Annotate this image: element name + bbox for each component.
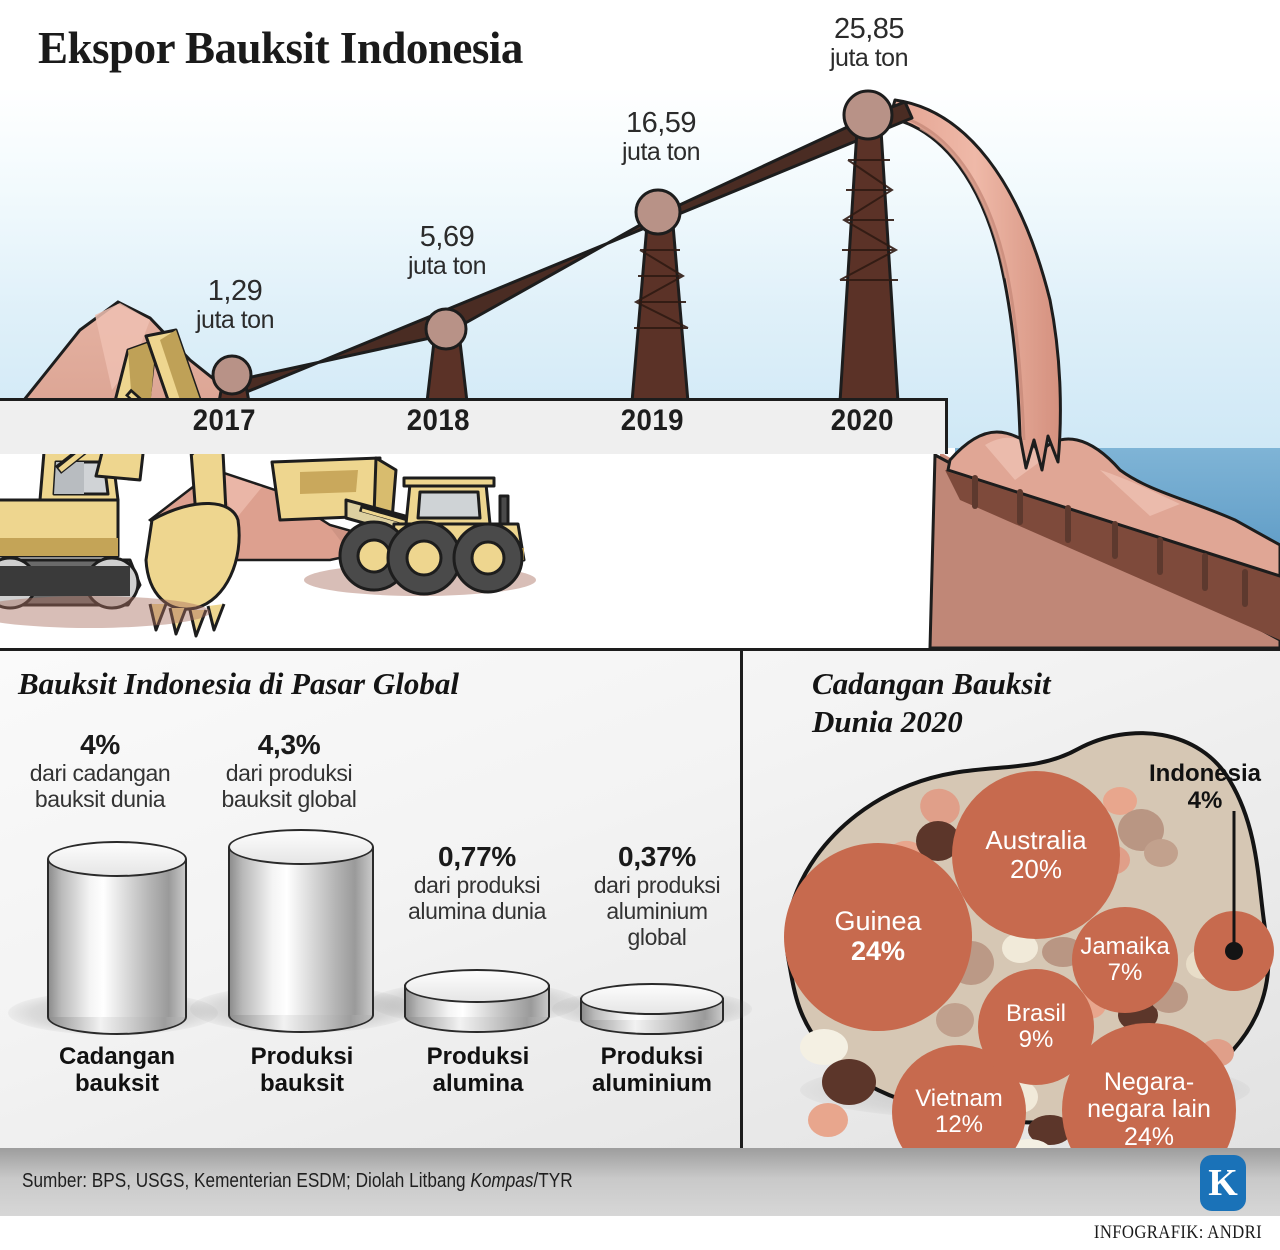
pebble-18 xyxy=(822,1059,876,1105)
pct-value-produksi-alumina: 0,77% xyxy=(382,841,572,873)
year-label-2018: 2018 xyxy=(407,404,470,438)
cylinder-top-1 xyxy=(47,841,187,877)
cylinder-body-2 xyxy=(228,847,374,1015)
bar-label2-produksi-aluminium: aluminium xyxy=(562,1070,742,1097)
bar-label-cadangan-bauksit: Cadangan bauksit xyxy=(27,1043,207,1098)
page-title: Ekspor Bauksit Indonesia xyxy=(38,22,523,74)
source-italic: Kompas xyxy=(470,1170,533,1192)
bubble-name-guinea: Guinea xyxy=(834,907,921,937)
unit-2019: juta ton xyxy=(582,139,740,166)
pebble-12 xyxy=(936,1003,974,1037)
source-suffix: /TYR xyxy=(533,1170,572,1192)
bubble-name-negara-lain-2: negara lain xyxy=(1087,1096,1211,1124)
pct-desc1-produksi-bauksit: dari produksi xyxy=(194,761,384,787)
pct-desc1-produksi-alumina: dari produksi xyxy=(382,873,572,899)
pct-group-produksi-alumina: 0,77% dari produksi alumina dunia xyxy=(382,841,572,925)
pct-group-produksi-aluminium: 0,37% dari produksi aluminium global xyxy=(562,841,752,950)
pct-desc2-produksi-aluminium: aluminium xyxy=(562,899,752,925)
bar-label-produksi-aluminium: Produksi aluminium xyxy=(562,1043,742,1098)
pct-group-cadangan-bauksit: 4% dari cadangan bauksit dunia xyxy=(10,729,190,813)
cylinder-produksi-aluminium xyxy=(580,983,724,1033)
year-axis-strip xyxy=(0,398,948,454)
indonesia-name: Indonesia xyxy=(1130,761,1280,788)
bubble-pct-australia: 20% xyxy=(985,855,1086,884)
year-label-2020: 2020 xyxy=(831,404,894,438)
cylinder-cadangan-bauksit xyxy=(47,841,187,1031)
pct-desc2-produksi-bauksit: bauksit global xyxy=(194,787,384,813)
indonesia-pct: 4% xyxy=(1130,788,1280,815)
bubble-pct-vietnam: 12% xyxy=(915,1112,1003,1138)
bar-label2-produksi-alumina: alumina xyxy=(388,1070,568,1097)
bubble-name-vietnam: Vietnam xyxy=(915,1086,1003,1112)
market-section-title: Bauksit Indonesia di Pasar Global xyxy=(18,665,459,703)
pct-value-produksi-aluminium: 0,37% xyxy=(562,841,752,873)
pct-value-cadangan-bauksit: 4% xyxy=(10,729,190,761)
cylinder-top-2 xyxy=(228,829,374,865)
value-2017: 1,29 xyxy=(208,275,262,307)
reserves-title-line1: Cadangan Bauksit xyxy=(812,665,1152,703)
value-label-2018: 5,69 juta ton xyxy=(372,222,522,280)
bubble-guinea[interactable]: Guinea 24% xyxy=(784,843,972,1031)
kompas-logo[interactable]: K xyxy=(1200,1155,1246,1211)
value-label-2017: 1,29 juta ton xyxy=(160,276,310,334)
source-text: Sumber: BPS, USGS, Kementerian ESDM; Dio… xyxy=(22,1170,573,1193)
pct-desc3-produksi-aluminium: global xyxy=(562,925,752,951)
bubble-name-jamaika: Jamaika xyxy=(1080,934,1169,960)
cylinder-produksi-alumina xyxy=(404,969,550,1033)
bubble-name-negara-lain-1: Negara- xyxy=(1087,1069,1211,1097)
reserves-title-line2: Dunia 2020 xyxy=(812,703,1152,741)
bar-label1-produksi-bauksit: Produksi xyxy=(212,1043,392,1070)
year-label-2017: 2017 xyxy=(193,404,256,438)
bar-label1-produksi-aluminium: Produksi xyxy=(562,1043,742,1070)
bubble-pct-negara-lain: 24% xyxy=(1087,1124,1211,1148)
bubble-name-brasil: Brasil xyxy=(1006,1001,1066,1027)
bubble-australia[interactable]: Australia 20% xyxy=(952,771,1120,939)
pct-value-produksi-bauksit: 4,3% xyxy=(194,729,384,761)
bar-label2-cadangan-bauksit: bauksit xyxy=(27,1070,207,1097)
pebble-8 xyxy=(1144,839,1178,867)
pct-desc2-produksi-alumina: alumina dunia xyxy=(382,899,572,925)
bar-label-produksi-bauksit: Produksi bauksit xyxy=(212,1043,392,1098)
bubble-pct-brasil: 9% xyxy=(1006,1027,1066,1053)
bar-label1-cadangan-bauksit: Cadangan xyxy=(27,1043,207,1070)
pebble-19 xyxy=(808,1103,848,1137)
value-2020: 25,85 xyxy=(834,13,904,45)
value-label-2020: 25,85 juta ton xyxy=(790,14,948,72)
bar-label1-produksi-alumina: Produksi xyxy=(388,1043,568,1070)
pct-group-produksi-bauksit: 4,3% dari produksi bauksit global xyxy=(194,729,384,813)
bubble-pct-guinea: 24% xyxy=(851,936,905,966)
bar-label-produksi-alumina: Produksi alumina xyxy=(388,1043,568,1098)
unit-2018: juta ton xyxy=(372,253,522,280)
year-label-2019: 2019 xyxy=(621,404,684,438)
indonesia-callout: Indonesia 4% xyxy=(1130,761,1280,815)
unit-2017: juta ton xyxy=(160,307,310,334)
cylinder-body-1 xyxy=(47,859,187,1017)
value-2019: 16,59 xyxy=(626,107,696,139)
bubble-pct-jamaika: 7% xyxy=(1080,960,1169,986)
bubble-jamaika[interactable]: Jamaika 7% xyxy=(1072,907,1178,1013)
cylinder-top-3 xyxy=(404,969,550,1003)
lower-panel: Bauksit Indonesia di Pasar Global Cadang… xyxy=(0,648,1280,1148)
infographic-root: Ekspor Bauksit Indonesia 2017 2018 2019 … xyxy=(0,0,1280,1250)
credit-text: INFOGRAFIK: ANDRI xyxy=(1094,1222,1262,1244)
bar-label2-produksi-bauksit: bauksit xyxy=(212,1070,392,1097)
unit-2020: juta ton xyxy=(790,45,948,72)
cylinder-produksi-bauksit xyxy=(228,829,374,1031)
pct-desc1-cadangan-bauksit: dari cadangan xyxy=(10,761,190,787)
kompas-logo-letter: K xyxy=(1208,1161,1238,1205)
value-label-2019: 16,59 juta ton xyxy=(582,108,740,166)
indonesia-leader-line xyxy=(1198,811,1280,991)
bubble-name-australia: Australia xyxy=(985,826,1086,855)
cylinder-top-4 xyxy=(580,983,724,1015)
reserves-section-title: Cadangan Bauksit Dunia 2020 xyxy=(812,665,1152,742)
pct-desc1-produksi-aluminium: dari produksi xyxy=(562,873,752,899)
pct-desc2-cadangan-bauksit: bauksit dunia xyxy=(10,787,190,813)
source-prefix: Sumber: BPS, USGS, Kementerian ESDM; Dio… xyxy=(22,1170,470,1192)
value-2018: 5,69 xyxy=(420,221,474,253)
